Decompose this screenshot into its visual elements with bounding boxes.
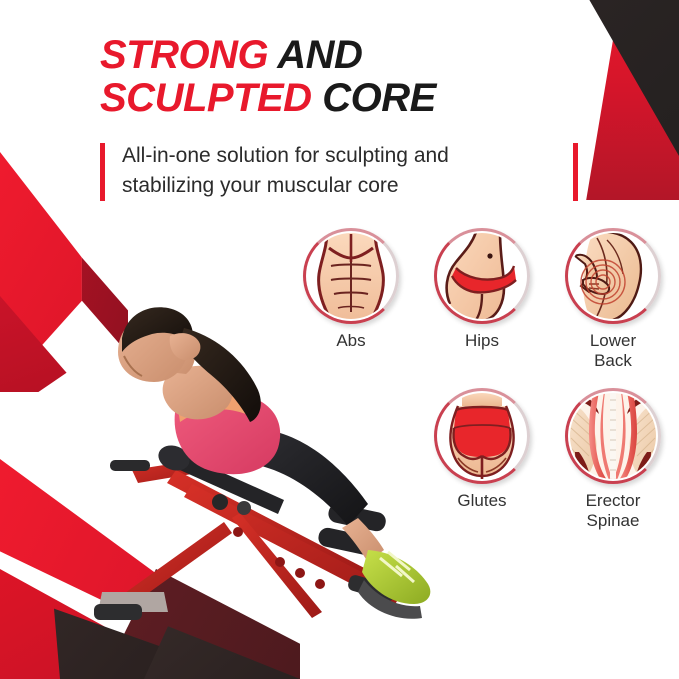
abs-torso-icon bbox=[303, 228, 399, 324]
benefit-label: Lower Back bbox=[558, 331, 668, 371]
headline-sculpted: SCULPTED bbox=[100, 76, 312, 120]
benefit-hips: Hips bbox=[427, 228, 537, 351]
icon-ring bbox=[434, 388, 530, 484]
headline-strong: STRONG bbox=[100, 33, 268, 77]
headline: STRONG AND SCULPTED CORE bbox=[100, 34, 570, 120]
headline-line-2: SCULPTED CORE bbox=[100, 77, 570, 120]
lower-back-icon bbox=[565, 228, 661, 324]
benefit-erector-spinae: Erector Spinae bbox=[558, 388, 668, 531]
glutes-icon bbox=[434, 388, 530, 484]
headline-and: AND bbox=[277, 33, 362, 77]
icon-ring bbox=[565, 388, 661, 484]
erector-spinae-icon bbox=[565, 388, 661, 484]
benefit-label: Glutes bbox=[427, 491, 537, 511]
subheading-text: All-in-one solution for sculpting and st… bbox=[122, 141, 542, 201]
icon-ring bbox=[303, 228, 399, 324]
benefit-abs: Abs bbox=[296, 228, 406, 351]
accent-bar-left bbox=[100, 143, 105, 201]
hips-icon bbox=[434, 228, 530, 324]
headline-line-1: STRONG AND bbox=[100, 34, 570, 77]
subheading-block: All-in-one solution for sculpting and st… bbox=[100, 141, 578, 205]
icon-ring bbox=[565, 228, 661, 324]
benefit-label: Erector Spinae bbox=[558, 491, 668, 531]
icon-ring bbox=[434, 228, 530, 324]
benefit-label: Abs bbox=[296, 331, 406, 351]
benefit-icons-grid: Abs bbox=[296, 228, 679, 558]
headline-core: CORE bbox=[322, 76, 436, 120]
product-marketing-image: STRONG AND SCULPTED CORE All-in-one solu… bbox=[0, 0, 679, 679]
benefit-glutes: Glutes bbox=[427, 388, 537, 511]
benefit-label: Hips bbox=[427, 331, 537, 351]
benefit-lower-back: Lower Back bbox=[558, 228, 668, 371]
accent-bar-right bbox=[573, 143, 578, 201]
